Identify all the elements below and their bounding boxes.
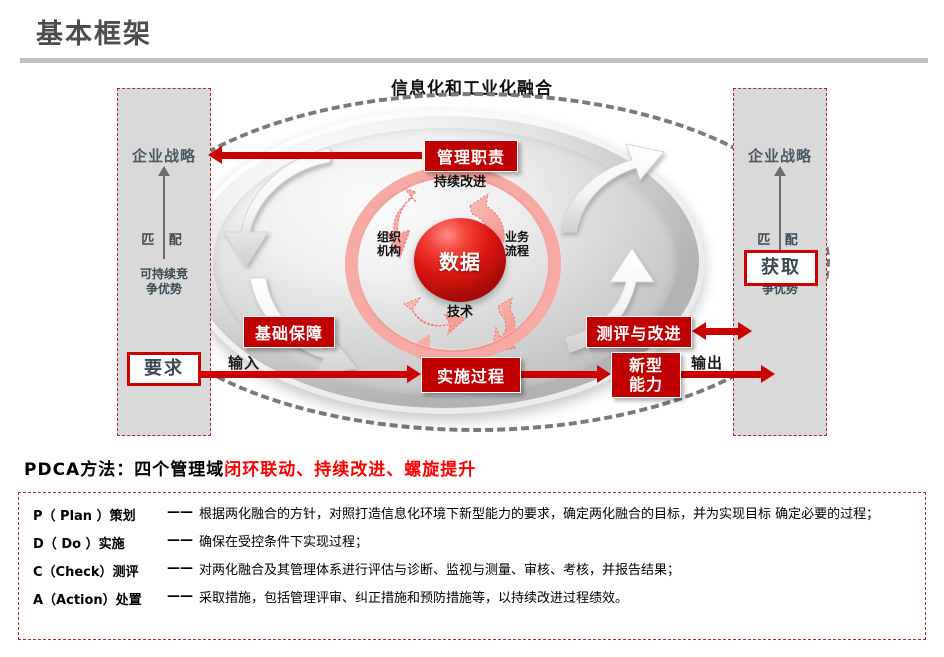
label-business-process: 业务 流程: [500, 230, 534, 258]
pdca-heading: PDCA方法：四个管理域闭环联动、持续改进、螺旋提升: [24, 455, 476, 480]
pdca-row-dash: ——: [161, 533, 199, 548]
arrow-eval-acquire-line: [706, 328, 738, 335]
arrow-eval-acquire-head-left: [692, 322, 706, 340]
box-implementation-process[interactable]: 实施过程: [421, 357, 521, 393]
right-panel-strategy: 企业战略: [734, 145, 826, 166]
pdca-heading-red: 闭环联动、持续改进、螺旋提升: [224, 460, 476, 480]
left-panel-match: 匹 配: [118, 229, 210, 248]
arrow-newcap-to-output-head: [761, 365, 775, 383]
pdca-row-text: 采取措施，包括管理评审、纠正措施和预防措施等，以持续改进过程绩效。: [199, 589, 911, 609]
pdca-row: P（ Plan ）策划 —— 根据两化融合的方针，对照打造信息化环境下新型能力的…: [33, 505, 911, 525]
box-management-responsibility[interactable]: 管理职责: [424, 140, 518, 172]
label-organization-line1: 组织: [372, 230, 406, 244]
left-panel-strategy: 企业战略: [118, 145, 210, 166]
pdca-heading-black: PDCA方法：四个管理域: [24, 460, 224, 480]
pdca-row-dash: ——: [161, 589, 199, 604]
label-input: 输入: [228, 352, 260, 373]
pdca-row-text: 对两化融合及其管理体系进行评估与诊断、监视与测量、审核、考核，并报告结果；: [199, 561, 911, 581]
arrow-management-to-strategy-line: [222, 152, 422, 159]
pdca-row-text: 确保在受控条件下实现过程；: [199, 533, 911, 553]
arrow-eval-acquire-head-right: [738, 322, 752, 340]
label-output: 输出: [691, 352, 723, 373]
label-organization: 组织 机构: [372, 230, 406, 258]
pdca-row-key: P（ Plan ）策划: [33, 505, 161, 524]
pdca-row-text: 根据两化融合的方针，对照打造信息化环境下新型能力的要求，确定两化融合的目标，并为…: [199, 505, 911, 525]
box-basic-support[interactable]: 基础保障: [243, 316, 335, 348]
pdca-row: C（Check）测评 —— 对两化融合及其管理体系进行评估与诊断、监视与测量、审…: [33, 561, 911, 581]
box-evaluation-improvement[interactable]: 测评与改进: [586, 316, 692, 348]
pdca-row: D（ Do ）实施 —— 确保在受控条件下实现过程；: [33, 533, 911, 553]
label-organization-line2: 机构: [372, 244, 406, 258]
label-business-line2: 流程: [500, 244, 534, 258]
arrow-impl-to-newcap-head: [597, 365, 611, 383]
left-panel-advantage-line1: 可持续竞: [118, 267, 210, 282]
framework-diagram: 信息化和工业化融合: [0, 66, 944, 436]
pdca-row: A（Action）处置 —— 采取措施，包括管理评审、纠正措施和预防措施等，以持…: [33, 589, 911, 609]
arrow-impl-to-newcap-line: [521, 371, 597, 378]
box-acquire[interactable]: 获取: [744, 250, 818, 286]
pdca-row-dash: ——: [161, 561, 199, 576]
arrow-management-to-strategy-head: [208, 146, 222, 164]
pdca-row-key: C（Check）测评: [33, 561, 161, 580]
left-panel-advantage: 可持续竞 争优势: [118, 267, 210, 297]
box-new-capability[interactable]: 新型 能力: [611, 352, 681, 398]
label-business-line1: 业务: [500, 230, 534, 244]
box-new-capability-line1: 新型: [629, 356, 663, 375]
label-continuous-improvement: 持续改进: [404, 176, 516, 190]
label-technology: 技术: [434, 306, 486, 320]
pdca-description-box: P（ Plan ）策划 —— 根据两化融合的方针，对照打造信息化环境下新型能力的…: [18, 492, 926, 640]
data-sphere: 数据: [414, 218, 506, 302]
right-panel-match: 匹 配: [734, 229, 826, 248]
box-new-capability-line2: 能力: [629, 375, 663, 394]
box-requirement[interactable]: 要求: [127, 352, 201, 386]
pdca-row-dash: ——: [161, 505, 199, 520]
data-sphere-label: 数据: [439, 246, 481, 275]
page-title: 基本框架: [36, 12, 152, 51]
left-panel-advantage-line2: 争优势: [118, 282, 210, 297]
pdca-row-key: D（ Do ）实施: [33, 533, 161, 552]
title-divider: [20, 58, 928, 63]
arrow-requirement-to-impl-head: [407, 365, 421, 383]
pdca-row-key: A（Action）处置: [33, 589, 161, 608]
